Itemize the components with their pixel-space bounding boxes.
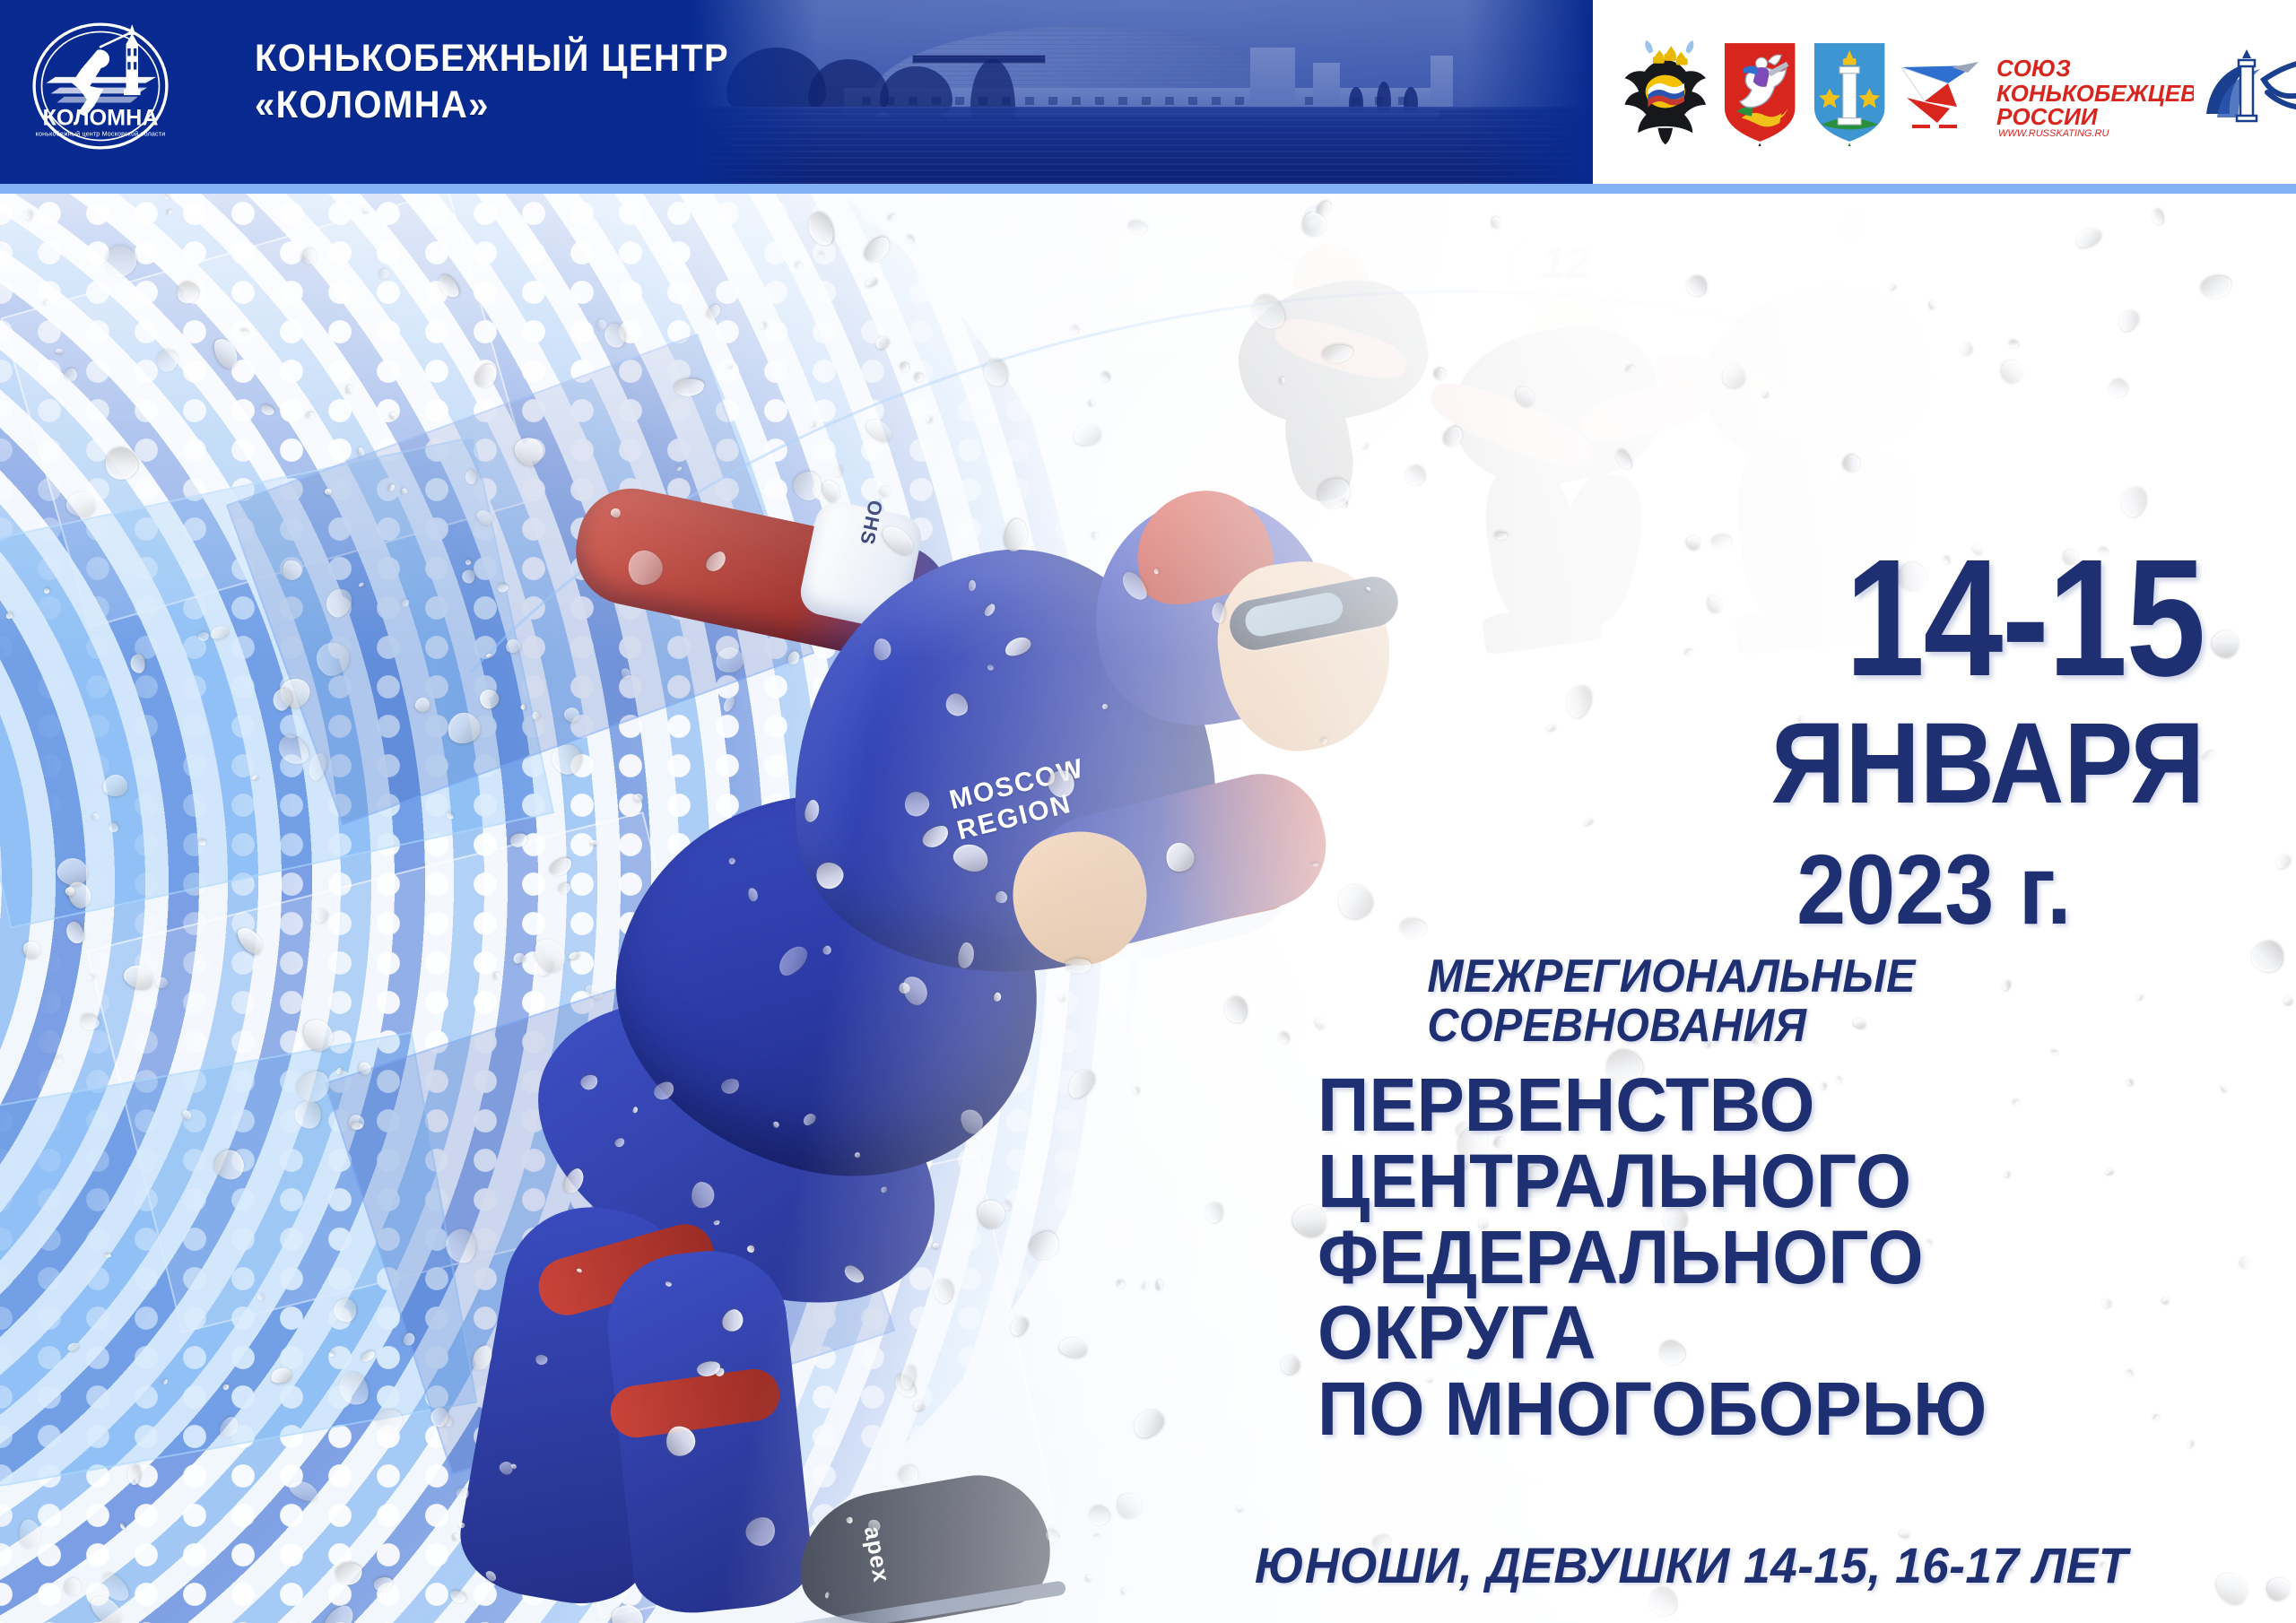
header-title: КОНЬКОБЕЖНЫЙ ЦЕНТР «КОЛОМНА» bbox=[255, 36, 729, 128]
russian-skating-union-logo: СОЮЗ КОНЬКОБЕЖЦЕВ РОССИИ WWW.RUSSKATING.… bbox=[1898, 46, 2194, 139]
event-year: 2023 г. bbox=[1796, 841, 2072, 940]
partner-logos-bar: СОЮЗ КОНЬКОБЕЖЦЕВ РОССИИ WWW.RUSSKATING.… bbox=[1593, 0, 2296, 184]
poster-header: КОЛОМНА конькобежный центр Московской об… bbox=[0, 0, 2296, 194]
water-droplet bbox=[1999, 358, 2026, 386]
water-droplet bbox=[2186, 1440, 2193, 1448]
kolomna-coat-of-arms bbox=[1808, 39, 1891, 146]
water-droplet bbox=[2211, 1567, 2254, 1610]
water-droplet bbox=[2104, 376, 2130, 402]
event-age-groups: ЮНОШИ, ДЕВУШКИ 14-15, 16-17 ЛЕТ bbox=[1255, 1541, 2158, 1591]
water-droplet bbox=[2152, 208, 2164, 225]
water-droplet bbox=[2264, 1573, 2294, 1602]
svg-text:СОЮЗ: СОЮЗ bbox=[1996, 55, 2071, 82]
svg-text:конькобежный центр Московской: конькобежный центр Московской области bbox=[36, 130, 166, 137]
kolomna-logo-icon: КОЛОМНА конькобежный центр Московской об… bbox=[25, 11, 176, 161]
event-month: ЯНВАРЯ bbox=[1771, 707, 2205, 821]
svg-text:КОЛОМНА: КОЛОМНА bbox=[43, 106, 159, 131]
event-title: ПЕРВЕНСТВО ЦЕНТРАЛЬНОГО ФЕДЕРАЛЬНОГО ОКР… bbox=[1318, 1067, 2187, 1447]
main-skater-figure: OHS MOSCOW REGION apex bbox=[323, 292, 1489, 1610]
event-dates: 14-15 bbox=[1845, 542, 2205, 695]
moscow-region-skating-federation-logo: ФЕДЕРАЦИЯ МОСКОВСКОЙ ОБЛАСТИ ПО КОНЬКОБЕ… bbox=[2201, 44, 2296, 141]
ministry-of-sport-russia-emblem bbox=[1620, 39, 1711, 146]
water-droplet bbox=[2116, 307, 2142, 334]
water-droplet bbox=[2239, 1256, 2252, 1268]
water-droplet bbox=[2008, 341, 2019, 350]
header-blue-band: КОЛОМНА конькобежный центр Московской об… bbox=[0, 0, 1593, 184]
moscow-region-coat-of-arms bbox=[1718, 39, 1801, 146]
event-subtitle: МЕЖРЕГИОНАЛЬНЫЕ СОРЕВНОВАНИЯ bbox=[1427, 952, 2111, 1050]
svg-text:WWW.RUSSKATING.RU: WWW.RUSSKATING.RU bbox=[1998, 128, 2109, 139]
water-droplet bbox=[1958, 341, 1973, 356]
svg-text:РОССИИ: РОССИИ bbox=[1996, 103, 2099, 130]
header-accent-strip bbox=[0, 184, 2296, 194]
water-droplet bbox=[2074, 224, 2104, 250]
skating-center-photo bbox=[691, 0, 1593, 184]
competition-poster: КОЛОМНА конькобежный центр Московской об… bbox=[0, 0, 2296, 1623]
water-droplet bbox=[2199, 273, 2234, 301]
